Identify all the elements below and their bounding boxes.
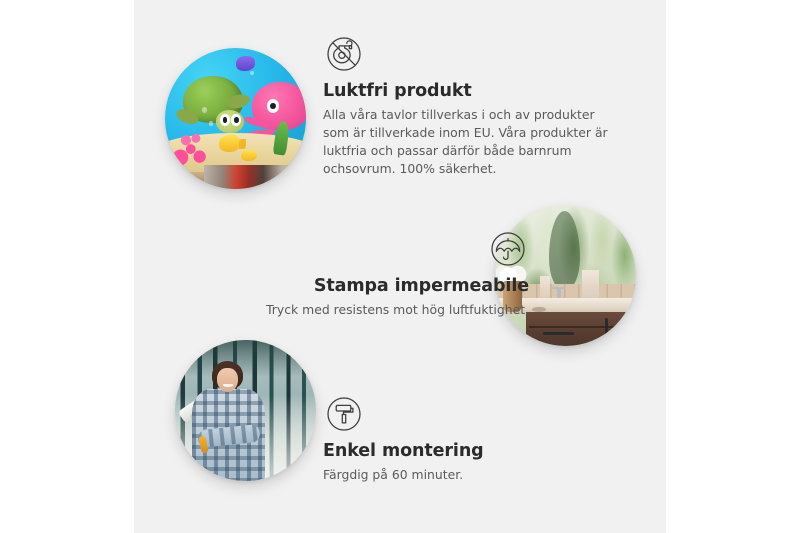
feature-odour-free: Luktfri produkt Alla våra tavlor tillver… xyxy=(323,33,623,178)
feature-body: Alla våra tavlor tillverkas i och av pro… xyxy=(323,106,623,178)
feature-easy-mounting: Enkel montering Färgdig på 60 minuter. xyxy=(323,393,623,484)
feature-waterproof: Stampa impermeabile Tryck med resistens … xyxy=(199,228,529,319)
feature-body: Tryck med resistens mot hög luftfuktighe… xyxy=(199,301,529,319)
feature-body: Färgdig på 60 minuter. xyxy=(323,466,623,484)
paint-roller-icon xyxy=(323,393,365,435)
no-fragrance-icon xyxy=(323,33,365,75)
feature-panel: Luktfri produkt Alla våra tavlor tillver… xyxy=(134,0,666,533)
umbrella-icon xyxy=(487,228,529,270)
forest-wallpaper-photo xyxy=(175,340,316,481)
feature-title: Enkel montering xyxy=(323,441,623,462)
underwater-cartoon-photo xyxy=(165,48,306,189)
screenshot-root: Luktfri produkt Alla våra tavlor tillver… xyxy=(0,0,800,533)
feature-title: Stampa impermeabile xyxy=(199,276,529,297)
feature-title: Luktfri produkt xyxy=(323,81,623,102)
